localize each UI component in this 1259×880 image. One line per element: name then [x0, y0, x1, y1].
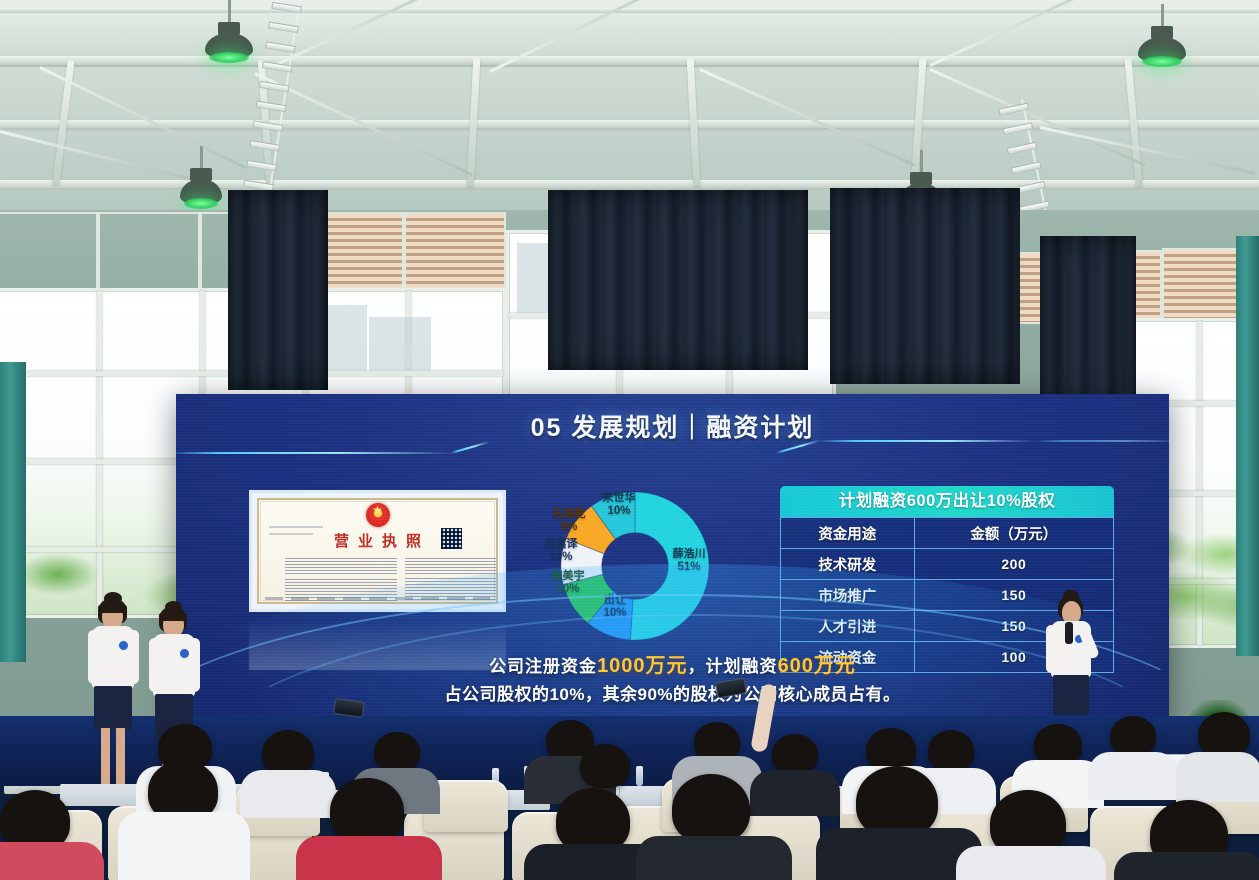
audience-body-front: [956, 846, 1106, 880]
audience-head: [1110, 716, 1156, 756]
wooden-louver: [404, 212, 506, 290]
audience-body: [1088, 752, 1178, 800]
footer-amount-registered: 1000万元: [597, 655, 688, 677]
footer-mid: ，计划融资: [688, 657, 778, 676]
audience-body: [240, 770, 336, 818]
pendant-lamp: [180, 146, 222, 204]
pendant-lamp: [1138, 4, 1186, 68]
footer-line-1: 公司注册资金1000万元，计划融资600万元: [176, 651, 1169, 682]
slide-footer-text: 公司注册资金1000万元，计划融资600万元 占公司股权的10%，其余90%的股…: [176, 651, 1169, 708]
structural-column-right: [1236, 236, 1259, 656]
audience-body: [1176, 752, 1259, 802]
funding-table-header: 计划融资600万出让10%股权: [780, 486, 1114, 517]
funding-table-column-1: 金额（万元）: [914, 518, 1113, 549]
footer-line-2: 占公司股权的10%，其余90%的股权为公司核心成员占有。: [176, 682, 1169, 708]
donut-label-3: 孙嘉译 10%: [530, 538, 592, 564]
stage-curtain-center: [548, 190, 808, 370]
stage-curtain-right: [830, 188, 1020, 384]
audience-head-front: [330, 778, 404, 844]
microphone-icon: [1065, 622, 1073, 644]
audience-head: [928, 730, 974, 772]
audience-body-front: [0, 842, 104, 880]
audience-head: [772, 734, 818, 774]
hostess-left: [86, 596, 146, 806]
audience-head: [374, 732, 420, 772]
presentation-photo-scene: 05 发展规划｜融资计划 营业执照 薛浩川 51%: [0, 0, 1259, 880]
wooden-louver: [0, 212, 98, 290]
donut-label-5: 宋世华 10%: [590, 492, 648, 518]
audience-body-front: [636, 836, 792, 880]
funding-table-column-row: 资金用途金额（万元）: [781, 518, 1114, 549]
audience-head: [580, 744, 630, 788]
wooden-louver: [98, 212, 200, 290]
qr-code-icon: [441, 528, 462, 549]
presenter-with-microphone: [1043, 594, 1103, 714]
pendant-lamp: [205, 0, 253, 64]
slide-title: 05 发展规划｜融资计划: [176, 408, 1169, 444]
footer-amount-raise: 600万元: [778, 655, 856, 677]
audience-body-front: [296, 836, 442, 880]
audience-body-front: [1114, 852, 1259, 880]
funding-amount-cell: 200: [914, 549, 1113, 580]
water-bottle: [636, 766, 643, 786]
audience-body: [750, 770, 840, 816]
audience-body-front: [118, 812, 250, 880]
national-emblem-icon: [366, 503, 390, 527]
funding-table-column-0: 资金用途: [781, 518, 915, 549]
stage-curtain-left: [228, 190, 328, 390]
footer-prefix: 公司注册资金: [489, 657, 597, 676]
title-accent-line-left: [176, 452, 456, 454]
structural-column-left: [0, 362, 26, 662]
led-presentation-screen: 05 发展规划｜融资计划 营业执照 薛浩川 51%: [176, 394, 1169, 724]
audience-head-front: [672, 774, 750, 844]
